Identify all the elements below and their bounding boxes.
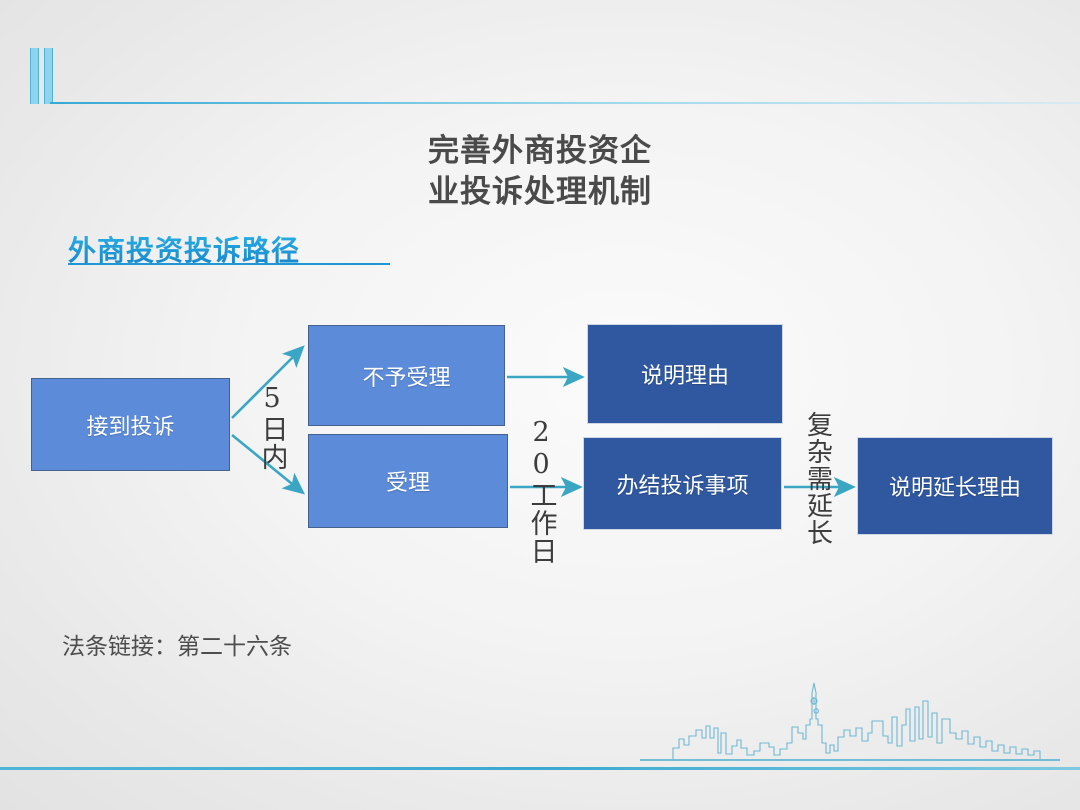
edge-label-complex-extension: 复杂需延长	[804, 411, 831, 546]
flow-box-reject[interactable]: 不予受理	[308, 325, 505, 426]
flow-box-settle[interactable]: 办结投诉事项	[583, 437, 782, 530]
flow-box-accept[interactable]: 受理	[308, 434, 508, 528]
edge-label-five-days: 5日内	[258, 383, 286, 471]
edge-label-twenty-working-days: 20工作日	[527, 417, 555, 565]
slide-canvas: 完善外商投资企 业投诉处理机制 外商投资投诉路径 接到投诉 不予受理 受理 说明…	[0, 0, 1080, 810]
flow-box-extend[interactable]: 说明延长理由	[857, 437, 1053, 535]
skyline-decoration	[640, 681, 1060, 766]
bottom-divider-rule	[0, 767, 1080, 770]
flow-box-reason[interactable]: 说明理由	[587, 324, 783, 424]
legal-reference-note: 法条链接：第二十六条	[62, 627, 292, 661]
flow-box-received[interactable]: 接到投诉	[31, 378, 230, 471]
